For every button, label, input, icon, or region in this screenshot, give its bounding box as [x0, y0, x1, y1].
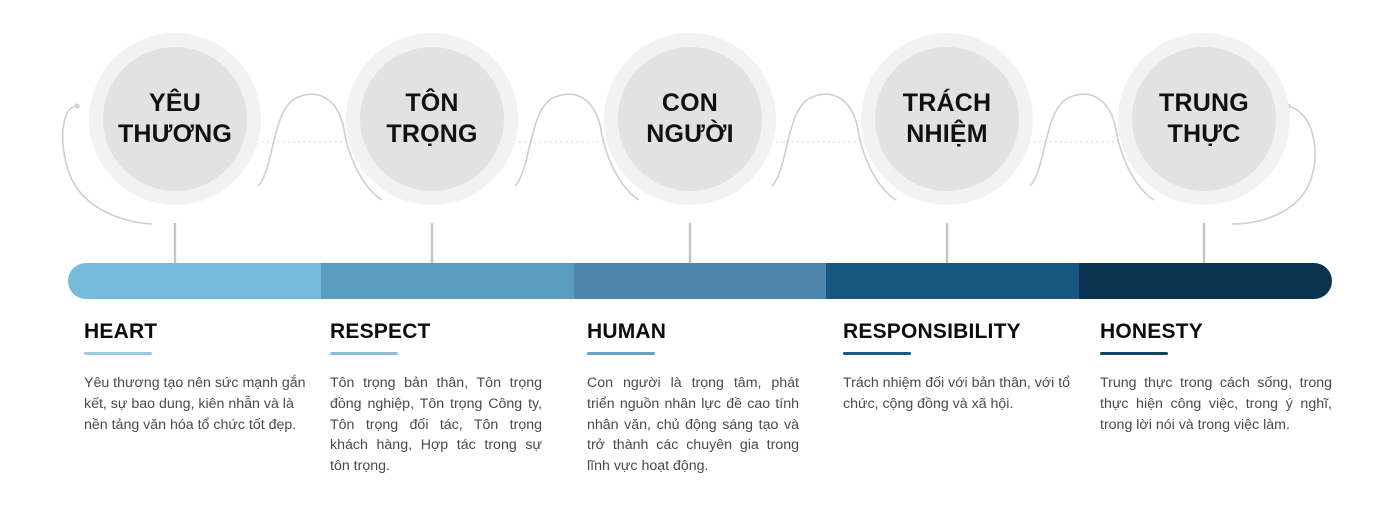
values-infographic: YÊU THƯƠNG TÔN TRỌNG CON NGƯỜI TRÁCH NHI… [0, 0, 1400, 518]
column-rule-honesty [1100, 352, 1168, 355]
column-body-honesty: Trung thực trong cách sống, trong thực h… [1100, 373, 1332, 435]
value-progress-bar [68, 263, 1332, 299]
column-title-respect: RESPECT [330, 320, 542, 343]
value-node-heart[interactable]: YÊU THƯƠNG [89, 33, 261, 205]
column-body-responsibility: Trách nhiệm đối với bản thân, với tổ chứ… [843, 373, 1071, 414]
column-title-human: HUMAN [587, 320, 799, 343]
column-human: HUMAN Con người là trọng tâm, phát triển… [587, 320, 799, 477]
value-node-honesty[interactable]: TRUNG THỰC [1118, 33, 1290, 205]
column-title-honesty: HONESTY [1100, 320, 1332, 343]
column-respect: RESPECT Tôn trọng bản thân, Tôn trọng đồ… [330, 320, 542, 477]
column-heart: HEART Yêu thương tạo nên sức mạnh gắn kế… [84, 320, 312, 435]
column-rule-responsibility [843, 352, 911, 355]
column-title-heart: HEART [84, 320, 312, 343]
column-body-human: Con người là trọng tâm, phát triển nguồn… [587, 373, 799, 477]
node-label-responsibility: TRÁCH NHIỆM [861, 33, 1033, 205]
column-responsibility: RESPONSIBILITY Trách nhiệm đối với bản t… [843, 320, 1071, 415]
node-label-heart: YÊU THƯƠNG [89, 33, 261, 205]
node-label-human: CON NGƯỜI [604, 33, 776, 205]
column-rule-heart [84, 352, 152, 355]
bar-segment-respect [321, 263, 574, 299]
bar-segment-honesty [1079, 263, 1332, 299]
column-rule-human [587, 352, 655, 355]
node-label-honesty: TRUNG THỰC [1118, 33, 1290, 205]
value-node-responsibility[interactable]: TRÁCH NHIỆM [861, 33, 1033, 205]
bar-segment-responsibility [826, 263, 1079, 299]
column-title-responsibility: RESPONSIBILITY [843, 320, 1071, 343]
column-body-heart: Yêu thương tạo nên sức mạnh gắn kết, sự … [84, 373, 312, 435]
column-honesty: HONESTY Trung thực trong cách sống, tron… [1100, 320, 1332, 435]
value-node-respect[interactable]: TÔN TRỌNG [346, 33, 518, 205]
column-rule-respect [330, 352, 398, 355]
bar-segment-human [574, 263, 827, 299]
value-node-human[interactable]: CON NGƯỜI [604, 33, 776, 205]
column-body-respect: Tôn trọng bản thân, Tôn trọng đồng nghiệ… [330, 373, 542, 477]
bar-segment-heart [68, 263, 321, 299]
connector-stems [175, 223, 1204, 263]
node-label-respect: TÔN TRỌNG [346, 33, 518, 205]
endpoint-dot-left [74, 103, 79, 108]
